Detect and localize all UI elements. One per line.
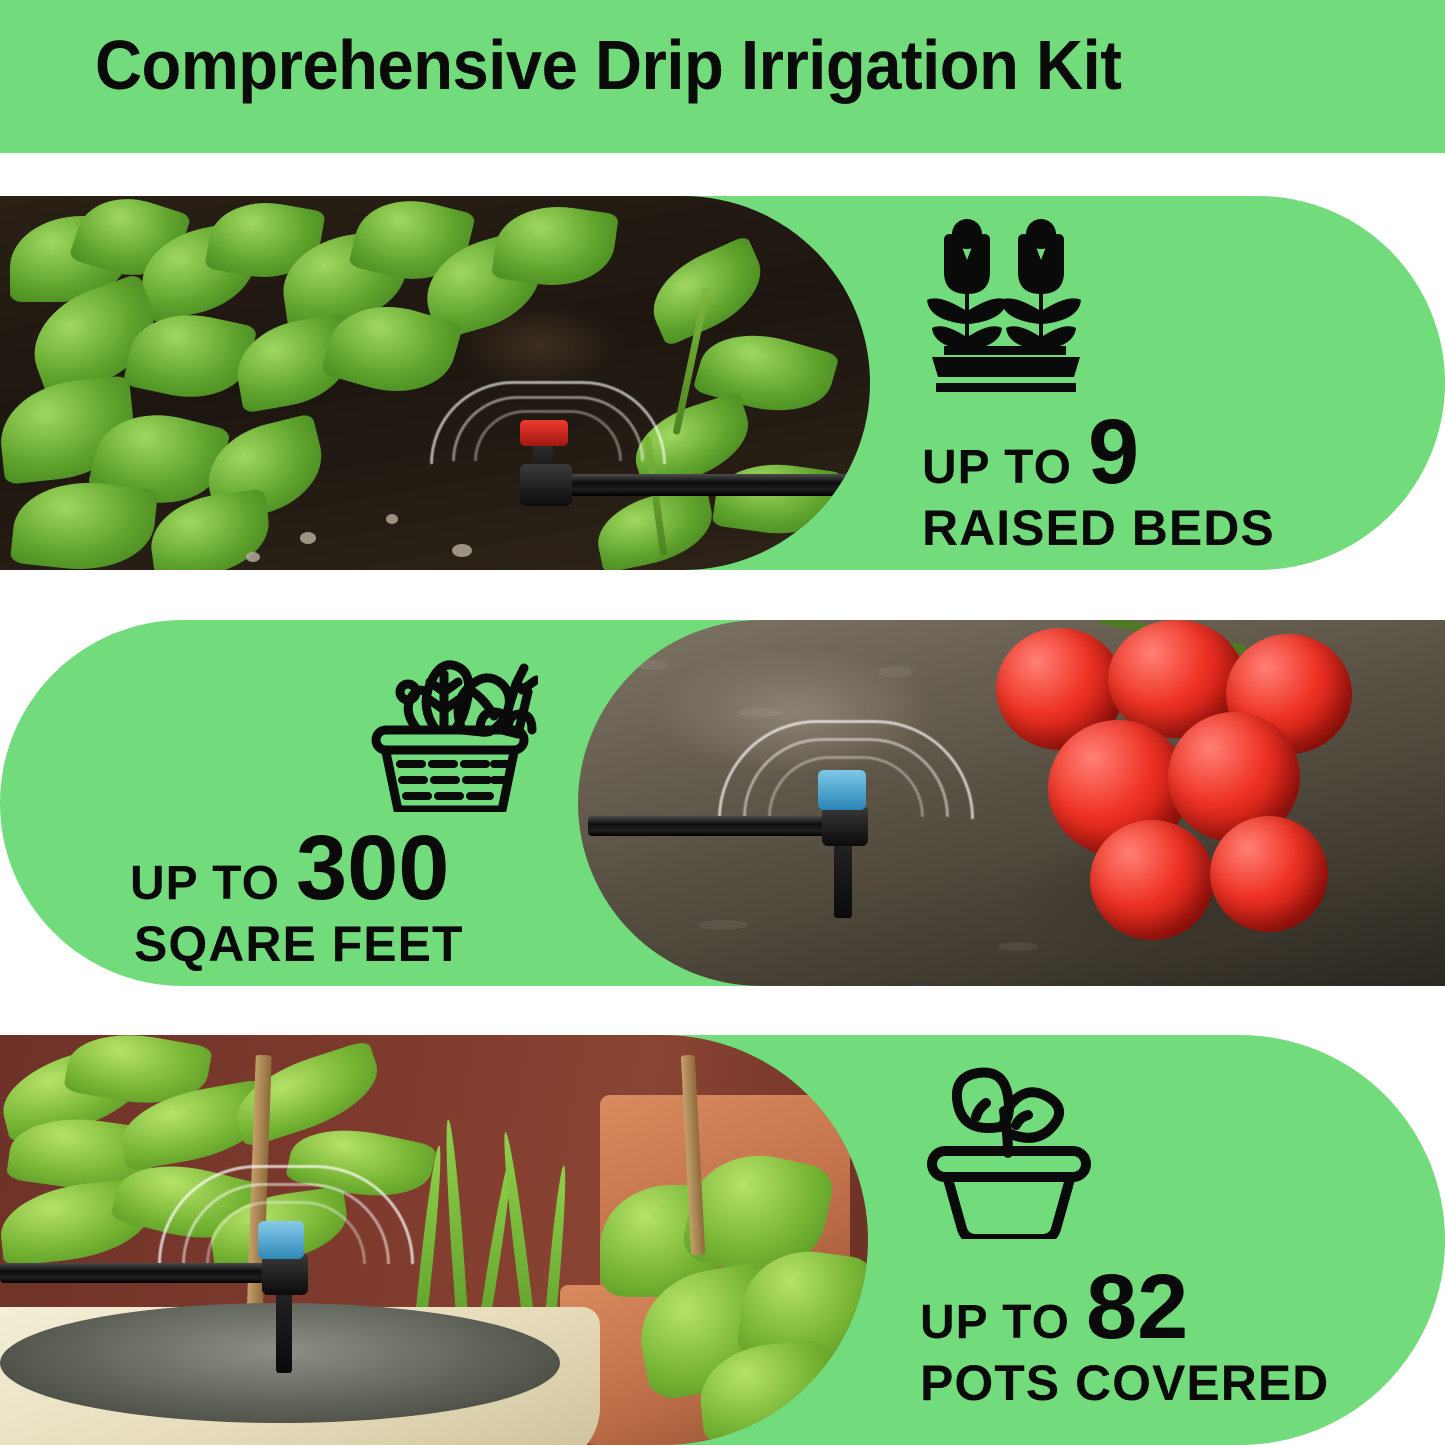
two-tulips-in-planter-icon: [926, 214, 1386, 397]
stat-number: 82: [1086, 1266, 1188, 1349]
page-title: Comprehensive Drip Irrigation Kit: [95, 30, 1121, 100]
stat-number: 9: [1088, 411, 1139, 494]
stat-line-primary: UP TO 82: [920, 1266, 1386, 1350]
feature-panel-pots-covered: UP TO 82 POTS COVERED: [0, 1035, 1445, 1445]
emitter-stake: [276, 1285, 292, 1373]
drip-tube: [545, 474, 870, 496]
potted-sprout-icon: [924, 1057, 1386, 1244]
stat-line-primary: UP TO 9: [922, 411, 1386, 495]
panel-photo-raised-beds: [0, 196, 870, 570]
panel-content-pots-covered: UP TO 82 POTS COVERED: [916, 1057, 1386, 1412]
emitter-cap-blue: [818, 770, 866, 810]
feature-panel-square-feet: UP TO 300 SQARE FEET: [0, 620, 1445, 986]
emitter-stake: [834, 838, 852, 918]
emitter-cap-blue: [258, 1221, 304, 1259]
stat-number: 300: [296, 827, 450, 910]
stat-prefix: UP TO: [922, 440, 1072, 495]
emitter-body: [520, 464, 572, 506]
stat-caption: POTS COVERED: [920, 1354, 1386, 1412]
panel-photo-tomatoes: [578, 620, 1445, 986]
panel-photo-potted-plants: [0, 1035, 868, 1445]
stat-prefix: UP TO: [920, 1295, 1070, 1350]
drip-tube: [588, 816, 848, 836]
panel-content-raised-beds: UP TO 9 RAISED BEDS: [916, 214, 1386, 557]
emitter-body: [262, 1253, 308, 1295]
feature-panel-raised-beds: UP TO 9 RAISED BEDS: [0, 196, 1445, 570]
stat-caption: RAISED BEDS: [922, 499, 1386, 557]
emitter-cap-red: [520, 420, 568, 446]
panel-content-square-feet: UP TO 300 SQARE FEET: [130, 634, 600, 973]
stat-prefix: UP TO: [130, 856, 280, 911]
emitter-body: [822, 806, 868, 846]
drip-tube: [0, 1263, 290, 1283]
stat-caption: SQARE FEET: [134, 915, 600, 973]
stat-line-primary: UP TO 300: [130, 827, 600, 911]
header-band: Comprehensive Drip Irrigation Kit: [0, 0, 1445, 153]
vegetable-basket-icon: [362, 634, 600, 817]
